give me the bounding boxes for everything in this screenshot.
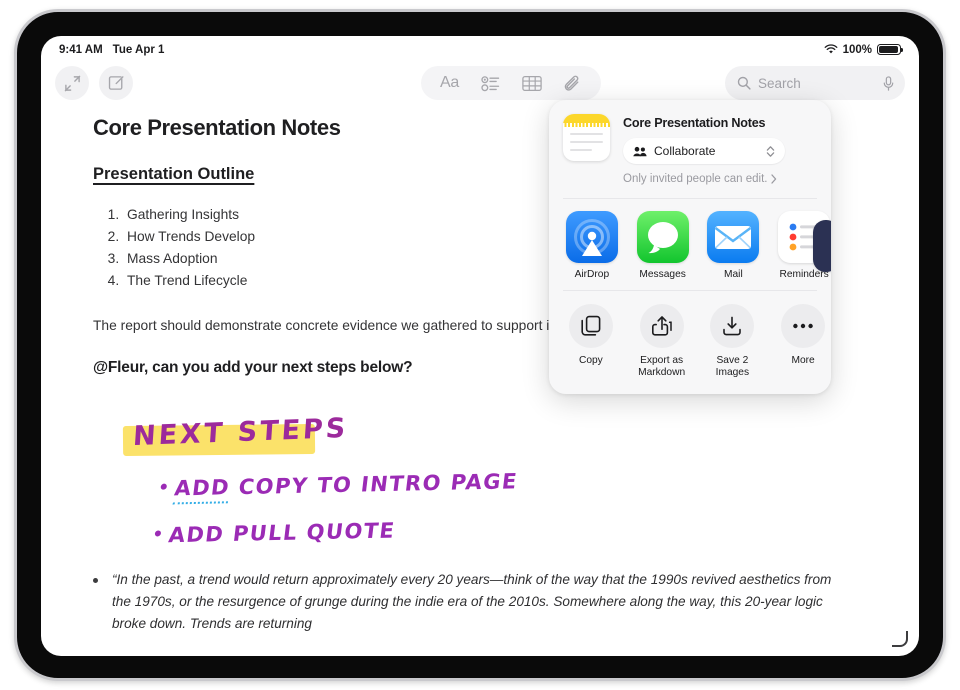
insert-table-button[interactable] — [517, 68, 547, 98]
action-export-markdown[interactable]: Export as Markdown — [634, 304, 690, 380]
resize-corner-handle[interactable] — [892, 631, 908, 647]
more-button[interactable] — [781, 304, 825, 348]
action-save-images[interactable]: Save 2 Images — [705, 304, 761, 380]
chevron-up-down-icon — [766, 145, 775, 158]
share-action-row: Copy Export as Markdown — [549, 291, 831, 380]
handwritten-bullet-icon — [160, 484, 167, 490]
people-icon — [633, 146, 647, 157]
action-more[interactable]: More — [775, 304, 831, 380]
messages-icon — [637, 211, 689, 263]
collaborate-dropdown[interactable]: Collaborate — [623, 138, 785, 164]
quote-block: “In the past, a trend would return appro… — [93, 569, 875, 635]
notes-icon-line — [570, 149, 592, 151]
table-icon — [522, 75, 542, 92]
spellcheck-underlined-word: ADD — [173, 476, 232, 505]
permission-row[interactable]: Only invited people can edit. — [623, 173, 785, 185]
screenshot-root: 9:41 AM Tue Apr 1 100% — [0, 0, 960, 690]
battery-full-icon — [877, 44, 901, 56]
share-target-messages[interactable]: Messages — [636, 211, 690, 280]
compose-note-icon — [107, 74, 125, 92]
wifi-icon — [824, 44, 838, 55]
copy-button[interactable] — [569, 304, 613, 348]
share-target-mail[interactable]: Mail — [707, 211, 761, 280]
share-target-label: Messages — [639, 269, 685, 280]
action-label: Copy — [579, 355, 603, 367]
status-date: Tue Apr 1 — [113, 44, 165, 56]
share-sheet-header: Core Presentation Notes Collaborate — [549, 100, 831, 185]
handwritten-item-1: ADD COPY TO INTRO PAGE — [159, 469, 519, 500]
handwritten-item-2-rest: ADD PULL QUOTE — [167, 519, 396, 548]
search-field[interactable]: Search — [725, 66, 905, 100]
airdrop-icon — [566, 211, 618, 263]
save-images-button[interactable] — [710, 304, 754, 348]
status-time: 9:41 AM — [59, 44, 103, 56]
action-label: More — [792, 355, 815, 367]
ipad-screen: 9:41 AM Tue Apr 1 100% — [41, 36, 919, 656]
handwritten-item-2: ADD PULL QUOTE — [153, 519, 397, 548]
handwritten-title: NEXT STEPS — [132, 413, 349, 452]
paperclip-icon — [563, 74, 582, 93]
quote-text: “In the past, a trend would return appro… — [112, 569, 845, 635]
status-bar-right: 100% — [824, 44, 901, 56]
export-markdown-button[interactable] — [640, 304, 684, 348]
save-download-icon — [721, 315, 743, 337]
action-label: Save 2 Images — [705, 355, 761, 380]
status-bar-left: 9:41 AM Tue Apr 1 — [59, 44, 164, 56]
notes-icon-line — [570, 141, 603, 143]
airdrop-glyph — [566, 211, 618, 263]
search-icon — [737, 76, 751, 90]
compose-note-button[interactable] — [99, 66, 133, 100]
handwritten-item-1-rest: COPY TO INTRO PAGE — [237, 469, 519, 499]
share-target-label: AirDrop — [575, 269, 610, 280]
notes-icon-top-band — [563, 114, 610, 127]
collapse-arrows-icon — [64, 75, 81, 92]
search-placeholder: Search — [758, 76, 875, 91]
handwriting-block[interactable]: NEXT STEPS ADD COPY TO INTRO PAGE ADD PU… — [119, 411, 875, 561]
checklist-button[interactable] — [476, 68, 506, 98]
more-ellipsis-icon — [792, 322, 814, 330]
checklist-icon — [481, 75, 500, 92]
ipad-device-frame: 9:41 AM Tue Apr 1 100% — [14, 9, 946, 681]
share-sheet-popover: Core Presentation Notes Collaborate — [549, 100, 831, 394]
share-sheet-header-text: Core Presentation Notes Collaborate — [623, 114, 785, 185]
export-share-icon — [651, 315, 673, 337]
battery-percent-label: 100% — [843, 44, 872, 56]
app-toolbar: Aa — [41, 63, 919, 103]
mail-icon — [707, 211, 759, 263]
share-doc-title: Core Presentation Notes — [623, 116, 785, 130]
chevron-right-icon — [771, 174, 777, 184]
share-target-partial-offscreen[interactable] — [813, 220, 831, 272]
action-label: Export as Markdown — [634, 355, 690, 380]
share-target-label: Mail — [724, 269, 743, 280]
copy-icon — [580, 315, 602, 337]
messages-glyph — [637, 211, 689, 263]
bullet-icon — [93, 578, 98, 583]
collapse-arrows-button[interactable] — [55, 66, 89, 100]
formatting-toolbar-group: Aa — [421, 66, 601, 100]
notes-icon-line — [570, 133, 603, 135]
share-target-airdrop[interactable]: AirDrop — [565, 211, 619, 280]
collaborate-label: Collaborate — [654, 144, 759, 158]
notes-app-icon — [563, 114, 610, 161]
text-format-button[interactable]: Aa — [435, 68, 465, 98]
permission-text: Only invited people can edit. — [623, 173, 767, 185]
share-app-row: AirDrop Messages — [549, 199, 831, 280]
mail-glyph — [707, 211, 759, 263]
microphone-icon[interactable] — [882, 76, 895, 91]
action-copy[interactable]: Copy — [563, 304, 619, 380]
attachment-button[interactable] — [558, 68, 588, 98]
handwritten-bullet-icon — [155, 531, 162, 537]
status-bar: 9:41 AM Tue Apr 1 100% — [41, 36, 919, 63]
